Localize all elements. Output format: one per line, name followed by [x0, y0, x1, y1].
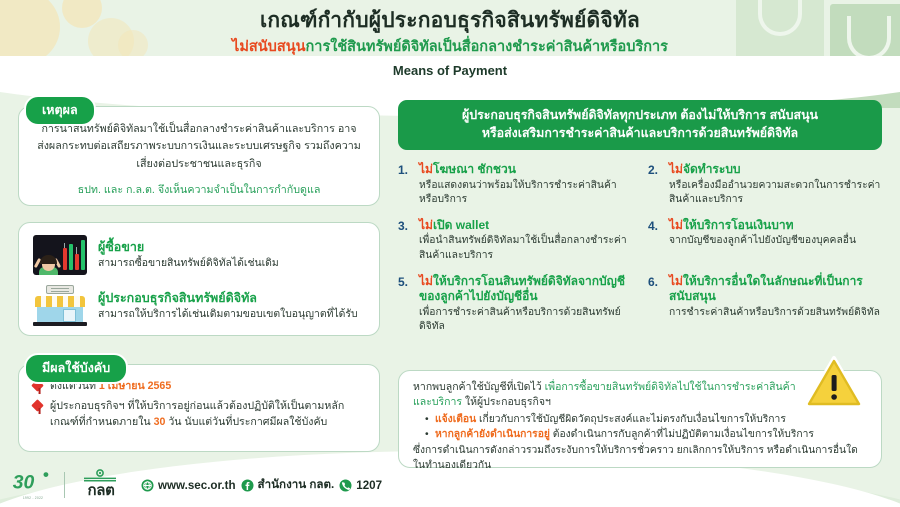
sec-logo-name: กลต: [73, 478, 129, 502]
facebook-icon: [241, 479, 254, 492]
warning-card: หากพบลูกค้าใช้บัญชีที่เปิดไว้ เพื่อการซื…: [398, 370, 882, 468]
rule-item-3: 3. ไม่เปิด wallet เพื่อนำสินทรัพย์ดิจิทั…: [398, 218, 632, 264]
page-subtitle: ไม่สนับสนุนการใช้สินทรัพย์ดิจิทัลเป็นสื่…: [0, 38, 900, 57]
footer-contacts: www.sec.or.th สำนักงาน กลต. 1207: [141, 476, 382, 494]
actor-description: สามารถซื้อขายสินทรัพย์ดิจิทัลได้เช่นเดิม: [98, 257, 279, 271]
effective-tab-label: มีผลใช้บังคับ: [24, 353, 128, 384]
sec-logo: กลต: [73, 469, 129, 501]
rule-description: หรือเครื่องมืออำนวยความสะดวกในการชำระค่า…: [669, 179, 882, 208]
rules-banner-text: ผู้ประกอบธุรกิจสินทรัพย์ดิจิทัลทุกประเภท…: [462, 107, 818, 143]
warning-lead-text: หากพบลูกค้าใช้บัญชีที่เปิดไว้ เพื่อการซื…: [413, 380, 867, 410]
actor-description: สามารถให้บริการได้เช่นเดิมตามขอบเขตใบอนุ…: [98, 308, 358, 322]
page-title: เกณฑ์กำกับผู้ประกอบธุรกิจสินทรัพย์ดิจิทั…: [0, 8, 900, 34]
contact-website-text: www.sec.or.th: [158, 479, 236, 492]
warning-triangle-icon: [803, 355, 865, 411]
trader-chart-icon: [33, 235, 87, 275]
list-item: ผู้ประกอบธุรกิจฯ ที่ให้บริการอยู่ก่อนแล้…: [33, 399, 363, 430]
rule-number: 4.: [648, 218, 663, 264]
rule-number: 3.: [398, 218, 413, 264]
rule-item-6: 6. ไม่ให้บริการอื่นใดในลักษณะที่เป็นการส…: [648, 274, 882, 335]
rule-heading: ไม่เปิด wallet: [419, 218, 632, 234]
actor-title: ผู้ประกอบธุรกิจสินทรัพย์ดิจิทัล: [98, 291, 358, 306]
rule-item-4: 4. ไม่ให้บริการโอนเงินบาท จากบัญชีของลูก…: [648, 218, 882, 264]
footer-divider: [64, 472, 65, 498]
rule-number: 6.: [648, 274, 663, 335]
rule-description: หรือแสดงตนว่าพร้อมให้บริการชำระค่าสินค้า…: [419, 179, 632, 208]
reason-note-text: ธปท. และ ก.ล.ต. จึงเห็นความจำเป็นในการกำ…: [19, 182, 379, 198]
rules-grid: 1. ไม่โฆษณา ชักชวน หรือแสดงตนว่าพร้อมให้…: [398, 162, 882, 358]
subtitle-rest: การใช้สินทรัพย์ดิจิทัลเป็นสื่อกลางชำระค่…: [306, 39, 668, 55]
rule-description: การชำระค่าสินค้าหรือบริการด้วยสินทรัพย์ด…: [669, 306, 882, 321]
shop-storefront-icon: [33, 285, 87, 327]
rule-heading: ไม่ให้บริการโอนสินทรัพย์ดิจิทัลจากบัญชีข…: [419, 274, 632, 305]
banner-line-2: หรือส่งเสริมการชำระค่าสินค้าและบริการด้ว…: [482, 126, 798, 140]
rule-heading: ไม่จัดทำระบบ: [669, 162, 882, 178]
svg-text:30: 30: [13, 471, 35, 493]
rule-description: เพื่อนำสินทรัพย์ดิจิทัลมาใช้เป็นสื่อกลาง…: [419, 234, 632, 263]
globe-icon: [141, 479, 154, 492]
actor-row-business: ผู้ประกอบธุรกิจสินทรัพย์ดิจิทัล สามารถให…: [19, 285, 379, 327]
warning-bullet-2: หากลูกค้ายังดำเนินการอยู่ ต้องดำเนินการก…: [413, 428, 867, 443]
rule-description: เพื่อการชำระค่าสินค้าหรือบริการด้วยสินทร…: [419, 306, 632, 335]
rules-banner: ผู้ประกอบธุรกิจสินทรัพย์ดิจิทัลทุกประเภท…: [398, 100, 882, 150]
warning-bullet-1: แจ้งเตือน เกี่ยวกับการใช้บัญชีผิดวัตถุปร…: [413, 413, 867, 428]
contact-website[interactable]: www.sec.or.th: [141, 479, 236, 492]
rule-number: 5.: [398, 274, 413, 335]
diamond-bullet-icon: [31, 399, 44, 412]
actors-card: ผู้ซื้อขาย สามารถซื้อขายสินทรัพย์ดิจิทัล…: [18, 222, 380, 336]
rule-heading: ไม่ให้บริการโอนเงินบาท: [669, 218, 882, 234]
effective-item-text: ผู้ประกอบธุรกิจฯ ที่ให้บริการอยู่ก่อนแล้…: [50, 399, 363, 430]
subtitle-negative: ไม่สนับสนุน: [232, 39, 306, 55]
rule-number: 2.: [648, 162, 663, 208]
reason-tab-label: เหตุผล: [24, 95, 96, 126]
rule-item-2: 2. ไม่จัดทำระบบ หรือเครื่องมืออำนวยความส…: [648, 162, 882, 208]
page-header: เกณฑ์กำกับผู้ประกอบธุรกิจสินทรัพย์ดิจิทั…: [0, 8, 900, 78]
actor-text-trader: ผู้ซื้อขาย สามารถซื้อขายสินทรัพย์ดิจิทัล…: [98, 240, 279, 271]
anniversary-30-mark: 30: [10, 470, 56, 494]
actor-title: ผู้ซื้อขาย: [98, 240, 279, 255]
contact-facebook-text: สำนักงาน กลต.: [258, 476, 335, 494]
rule-heading: ไม่ให้บริการอื่นใดในลักษณะที่เป็นการสนับ…: [669, 274, 882, 305]
rule-heading: ไม่โฆษณา ชักชวน: [419, 162, 632, 178]
rule-item-1: 1. ไม่โฆษณา ชักชวน หรือแสดงตนว่าพร้อมให้…: [398, 162, 632, 208]
rule-number: 1.: [398, 162, 413, 208]
rule-description: จากบัญชีของลูกค้าไปยังบัญชีของบุคคลอื่น: [669, 234, 882, 249]
actor-text-business: ผู้ประกอบธุรกิจสินทรัพย์ดิจิทัล สามารถให…: [98, 291, 358, 322]
warning-bullets: แจ้งเตือน เกี่ยวกับการใช้บัญชีผิดวัตถุปร…: [413, 413, 867, 443]
page-title-english: Means of Payment: [0, 63, 900, 78]
contact-facebook[interactable]: สำนักงาน กลต.: [241, 476, 335, 494]
infographic-poster: เกณฑ์กำกับผู้ประกอบธุรกิจสินทรัพย์ดิจิทั…: [0, 0, 900, 507]
rule-item-5: 5. ไม่ให้บริการโอนสินทรัพย์ดิจิทัลจากบัญ…: [398, 274, 632, 335]
contact-phone-text: 1207: [356, 479, 382, 492]
contact-phone[interactable]: 1207: [339, 479, 382, 492]
footer-bar: 30 1992 - 2022 กลต: [0, 463, 900, 507]
anniversary-logo: 30 1992 - 2022: [10, 470, 56, 500]
effective-highlight: 30: [154, 416, 166, 428]
banner-line-1: ผู้ประกอบธุรกิจสินทรัพย์ดิจิทัลทุกประเภท…: [462, 108, 818, 122]
phone-icon: [339, 479, 352, 492]
actor-row-trader: ผู้ซื้อขาย สามารถซื้อขายสินทรัพย์ดิจิทัล…: [19, 235, 379, 275]
anniversary-caption: 1992 - 2022: [10, 496, 56, 500]
